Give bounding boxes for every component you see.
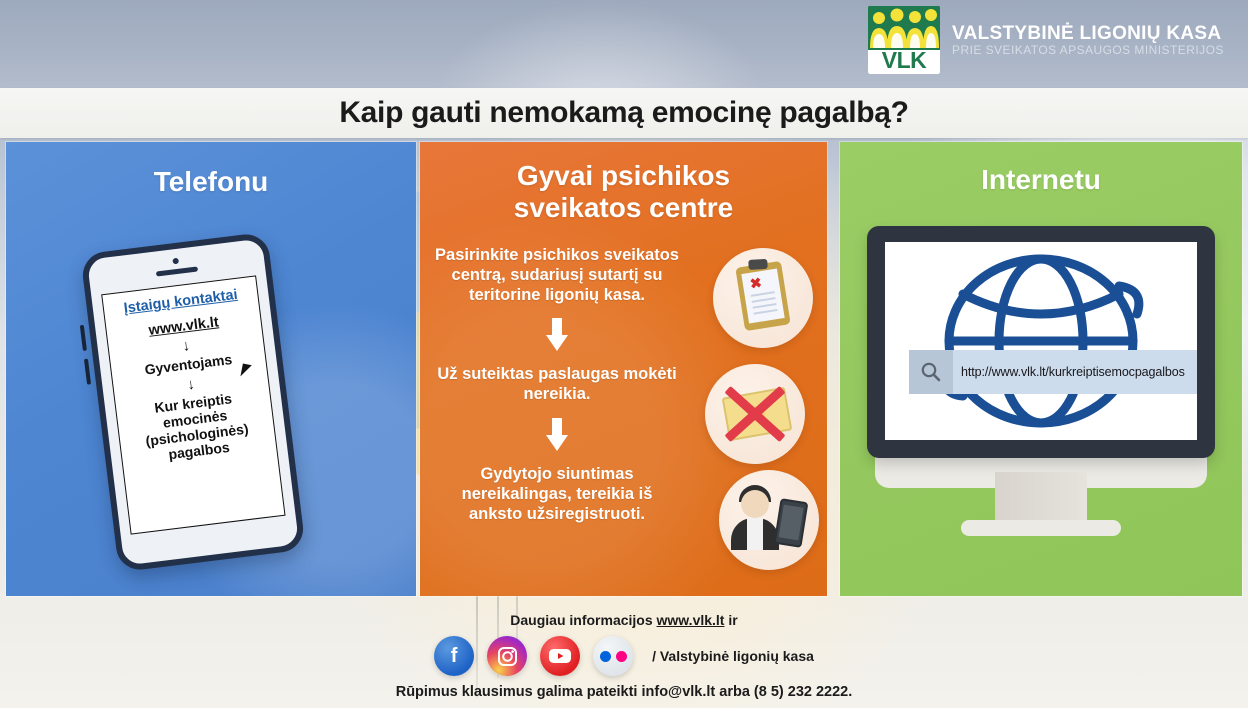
clipboard-line: [751, 291, 775, 297]
flickr-dot-blue: [600, 651, 611, 662]
flickr-icon[interactable]: [593, 636, 633, 676]
flickr-dot-pink: [616, 651, 627, 662]
smartphone-screen: [779, 505, 804, 541]
clipboard-line: [753, 309, 777, 315]
logo-people-graphic: [868, 6, 940, 50]
down-arrow-icon-2: [546, 418, 568, 452]
footer-contact: Rūpimus klausimus galima pateikti info@v…: [0, 684, 1248, 700]
magnifier-glyph: [920, 361, 942, 383]
phone-volume-button-1: [80, 325, 87, 351]
phone-illustration: Įstaigų kontaktai www.vlk.lt ↓ Gyventoja…: [80, 232, 306, 573]
clipboard-board: ✖: [735, 261, 790, 331]
logo-vlk-text: VLK: [868, 46, 940, 74]
panel-center-heading-line2: sveikatos centre: [420, 192, 827, 224]
panel-center-heading: Gyvai psichikos sveikatos centre: [420, 160, 827, 225]
person-shirt: [747, 518, 763, 550]
panel-internet-heading: Internetu: [840, 164, 1242, 196]
page-title: Kaip gauti nemokamą emocinę pagalbą?: [0, 88, 1248, 138]
footer-social-row: f / Valstybinė ligonių kasa: [0, 636, 1248, 676]
logo-figures-icon: [868, 6, 940, 50]
red-cross-icon: ✖: [749, 277, 763, 291]
infographic-page: VLK VALSTYBINĖ LIGONIŲ KASA PRIE SVEIKAT…: [0, 0, 1248, 708]
search-icon[interactable]: [909, 350, 953, 394]
phone-speaker: [156, 266, 198, 276]
center-step-2: Už suteiktas paslaugas mokėti nereikia.: [434, 365, 680, 405]
clipboard-icon: ✖: [713, 248, 813, 348]
logo-title-line1: VALSTYBINĖ LIGONIŲ KASA: [952, 23, 1224, 44]
monitor-frame: http://www.vlk.lt/kurkreiptisemocpagalbo…: [867, 226, 1215, 458]
panel-internet: Internetu: [840, 142, 1242, 596]
footer-more-info: Daugiau informacijos www.vlk.lt ir: [0, 612, 1248, 628]
phone-step-kur-kreiptis: Kur kreiptis emocinės (psichologinės) pa…: [122, 387, 271, 468]
clipboard-line: [753, 303, 777, 309]
person-head: [741, 490, 769, 518]
monitor-screen: http://www.vlk.lt/kurkreiptisemocpagalbo…: [885, 242, 1197, 440]
clipboard-paper: ✖: [741, 268, 784, 323]
panel-phone-heading: Telefonu: [6, 166, 416, 198]
phone-camera-icon: [172, 258, 179, 265]
panel-phone: Telefonu Įstaigų kontaktai www.vlk.lt ↓ …: [6, 142, 416, 596]
instagram-glyph: [497, 646, 518, 667]
footer-more-info-suffix: ir: [724, 612, 737, 628]
top-band-glow: [430, 0, 770, 88]
clipboard-clip: [748, 259, 767, 270]
vlk-logo: VLK VALSTYBINĖ LIGONIŲ KASA PRIE SVEIKAT…: [868, 6, 1224, 74]
no-money-icon: [705, 364, 805, 464]
footer-more-info-link[interactable]: www.vlk.lt: [657, 612, 725, 628]
phone-screen: Įstaigų kontaktai www.vlk.lt ↓ Gyventoja…: [101, 275, 285, 534]
phone-body: Įstaigų kontaktai www.vlk.lt ↓ Gyventoja…: [80, 232, 306, 573]
browser-url-text[interactable]: http://www.vlk.lt/kurkreiptisemocpagalbo…: [953, 365, 1185, 379]
footer-more-info-prefix: Daugiau informacijos: [510, 612, 656, 628]
browser-url-bar[interactable]: http://www.vlk.lt/kurkreiptisemocpagalbo…: [909, 350, 1197, 394]
clipboard-line: [752, 297, 776, 303]
monitor-illustration: http://www.vlk.lt/kurkreiptisemocpagalbo…: [867, 226, 1215, 526]
instagram-icon[interactable]: [487, 636, 527, 676]
vlk-logo-mark: VLK: [868, 6, 940, 74]
monitor-base: [961, 520, 1121, 536]
logo-wordmark: VALSTYBINĖ LIGONIŲ KASA PRIE SVEIKATOS A…: [952, 23, 1224, 58]
center-step-3: Gydytojo siuntimas nereikalingas, tereik…: [434, 465, 680, 524]
panel-center: Gyvai psichikos sveikatos centre Pasirin…: [420, 142, 827, 596]
smartphone-icon: [774, 498, 809, 548]
facebook-icon[interactable]: f: [434, 636, 474, 676]
person-phone-icon: [719, 470, 819, 570]
phone-volume-button-2: [84, 358, 91, 384]
down-arrow-icon-1: [546, 318, 568, 352]
panel-center-heading-line1: Gyvai psichikos: [420, 160, 827, 192]
center-step-1: Pasirinkite psichikos sveikatos centrą, …: [434, 246, 680, 305]
youtube-icon[interactable]: [540, 636, 580, 676]
footer-social-label: / Valstybinė ligonių kasa: [652, 648, 814, 664]
logo-title-line2: PRIE SVEIKATOS APSAUGOS MINISTERIJOS: [952, 44, 1224, 57]
center-steps-list: Pasirinkite psichikos sveikatos centrą, …: [434, 246, 680, 524]
youtube-glyph: [548, 647, 572, 665]
globe-icon: [923, 246, 1159, 436]
